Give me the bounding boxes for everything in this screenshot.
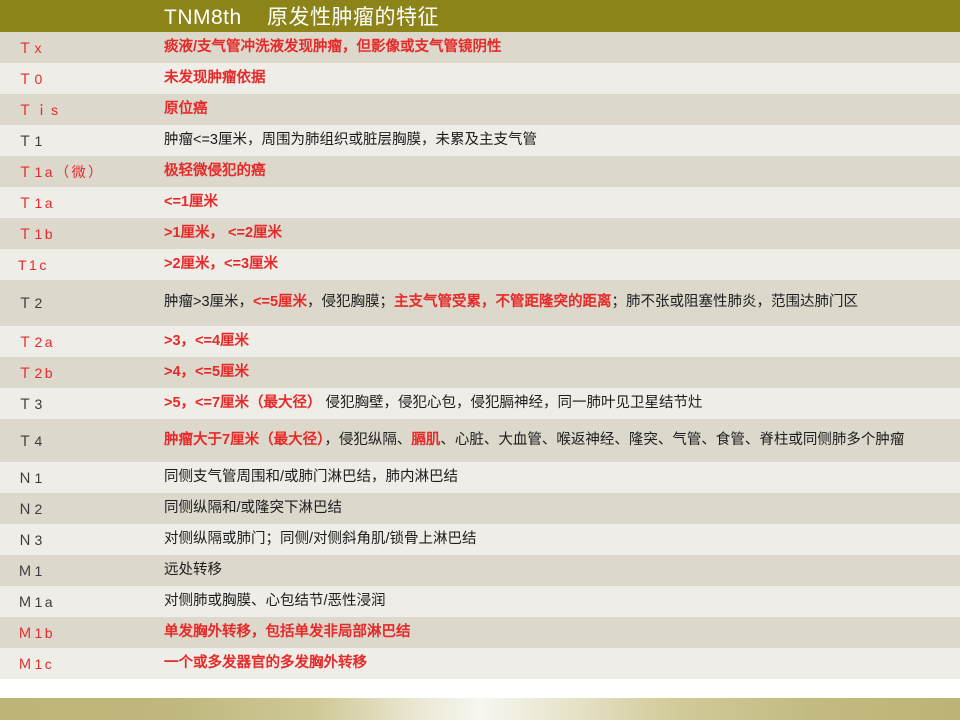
stage-description-cell: >4，<=5厘米 <box>152 357 960 388</box>
table-header: TNM8th 原发性肿瘤的特征 <box>0 0 960 32</box>
stage-code-cell: Ｔ2a <box>0 326 152 357</box>
table-row: Ｔ1a<=1厘米 <box>0 187 960 218</box>
table-row: Ｍ1c一个或多发器官的多发胸外转移 <box>0 648 960 679</box>
table-row: Ｎ2同侧纵隔和/或隆突下淋巴结 <box>0 493 960 524</box>
header-title-cell: TNM8th 原发性肿瘤的特征 <box>152 0 960 32</box>
stage-code-cell: Ｔ4 <box>0 419 152 462</box>
table-row: Ｍ1a对侧肺或胸膜、心包结节/恶性浸润 <box>0 586 960 617</box>
tnm-staging-table: TNM8th 原发性肿瘤的特征 Ｔx痰液/支气管冲洗液发现肿瘤，但影像或支气管镜… <box>0 0 960 679</box>
stage-description-cell: >1厘米， <=2厘米 <box>152 218 960 249</box>
table-row: Ｔ0未发现肿瘤依据 <box>0 63 960 94</box>
stage-description-cell: 同侧纵隔和/或隆突下淋巴结 <box>152 493 960 524</box>
table-row: Ｔ1b>1厘米， <=2厘米 <box>0 218 960 249</box>
stage-description-cell: 对侧肺或胸膜、心包结节/恶性浸润 <box>152 586 960 617</box>
stage-description-cell: >2厘米，<=3厘米 <box>152 249 960 280</box>
description-segment: ，侵犯纵隔、 <box>324 432 411 448</box>
stage-code-cell: Ｔ1b <box>0 218 152 249</box>
stage-code-cell: Ｔ1 <box>0 125 152 156</box>
description-segment: 膈肌 <box>411 432 440 448</box>
stage-code-cell: Ｎ1 <box>0 462 152 493</box>
table-row: Ｔｉs原位癌 <box>0 94 960 125</box>
header-blank-cell <box>0 0 152 32</box>
description-segment: ，侵犯胸膜； <box>307 294 394 310</box>
stage-code-cell: Ｍ1c <box>0 648 152 679</box>
description-segment: ；肺不张或阻塞性肺炎，范围达肺门区 <box>612 294 859 310</box>
stage-description-cell: 肿瘤大于7厘米（最大径），侵犯纵隔、膈肌、心脏、大血管、喉返神经、隆突、气管、食… <box>152 419 960 462</box>
stage-code-cell: Ｔ0 <box>0 63 152 94</box>
stage-code-cell: Ｍ1 <box>0 555 152 586</box>
stage-description-cell: 远处转移 <box>152 555 960 586</box>
stage-description-cell: 一个或多发器官的多发胸外转移 <box>152 648 960 679</box>
stage-description-cell: <=1厘米 <box>152 187 960 218</box>
stage-description-cell: 未发现肿瘤依据 <box>152 63 960 94</box>
stage-description-cell: >5，<=7厘米（最大径） 侵犯胸壁，侵犯心包，侵犯膈神经，同一肺叶见卫星结节灶 <box>152 388 960 419</box>
table-row: Ｎ3对侧纵隔或肺门；同侧/对侧斜角肌/锁骨上淋巴结 <box>0 524 960 555</box>
table-row: Ｔ1肿瘤<=3厘米，周围为肺组织或脏层胸膜，未累及主支气管 <box>0 125 960 156</box>
stage-description-cell: 同侧支气管周围和/或肺门淋巴结，肺内淋巴结 <box>152 462 960 493</box>
stage-code-cell: Ｔx <box>0 32 152 63</box>
stage-description-cell: 极轻微侵犯的癌 <box>152 156 960 187</box>
stage-code-cell: Ｔ1a <box>0 187 152 218</box>
description-segment: 主支气管受累，不管距隆突的距离 <box>394 294 612 310</box>
table-row: Ｔ2a>3，<=4厘米 <box>0 326 960 357</box>
slide-canvas: TNM8th 原发性肿瘤的特征 Ｔx痰液/支气管冲洗液发现肿瘤，但影像或支气管镜… <box>0 0 960 720</box>
description-segment: 、心脏、大血管、喉返神经、隆突、气管、食管、脊柱或同侧肺多个肿瘤 <box>440 432 904 448</box>
stage-code-cell: Ｍ1a <box>0 586 152 617</box>
description-segment: 侵犯胸壁，侵犯心包，侵犯膈神经，同一肺叶见卫星结节灶 <box>322 395 703 411</box>
bottom-gradient-bar <box>0 698 960 720</box>
stage-description-cell: >3，<=4厘米 <box>152 326 960 357</box>
description-segment: >5，<=7厘米（最大径） <box>164 395 322 411</box>
table-row: Ｔ3>5，<=7厘米（最大径） 侵犯胸壁，侵犯心包，侵犯膈神经，同一肺叶见卫星结… <box>0 388 960 419</box>
stage-code-cell: T1c <box>0 249 152 280</box>
stage-code-cell: Ｔ2 <box>0 280 152 326</box>
stage-code-cell: Ｎ3 <box>0 524 152 555</box>
stage-description-cell: 单发胸外转移，包括单发非局部淋巴结 <box>152 617 960 648</box>
stage-code-cell: Ｔ2b <box>0 357 152 388</box>
stage-code-cell: Ｔ1a（微） <box>0 156 152 187</box>
description-segment: 肿瘤大于7厘米（最大径） <box>164 432 324 448</box>
stage-code-cell: Ｎ2 <box>0 493 152 524</box>
table-body: Ｔx痰液/支气管冲洗液发现肿瘤，但影像或支气管镜阴性Ｔ0未发现肿瘤依据Ｔｉs原位… <box>0 32 960 679</box>
description-segment: 肿瘤>3厘米， <box>164 294 253 310</box>
table-row: Ｔ2肿瘤>3厘米，<=5厘米，侵犯胸膜；主支气管受累，不管距隆突的距离；肺不张或… <box>0 280 960 326</box>
table-row: T1c>2厘米，<=3厘米 <box>0 249 960 280</box>
table-row: Ｔx痰液/支气管冲洗液发现肿瘤，但影像或支气管镜阴性 <box>0 32 960 63</box>
header-row: TNM8th 原发性肿瘤的特征 <box>0 0 960 32</box>
stage-description-cell: 痰液/支气管冲洗液发现肿瘤，但影像或支气管镜阴性 <box>152 32 960 63</box>
stage-description-cell: 肿瘤>3厘米，<=5厘米，侵犯胸膜；主支气管受累，不管距隆突的距离；肺不张或阻塞… <box>152 280 960 326</box>
stage-description-cell: 原位癌 <box>152 94 960 125</box>
table-row: Ｔ1a（微）极轻微侵犯的癌 <box>0 156 960 187</box>
table-row: Ｔ2b>4，<=5厘米 <box>0 357 960 388</box>
table-row: Ｍ1b单发胸外转移，包括单发非局部淋巴结 <box>0 617 960 648</box>
description-segment: <=5厘米 <box>253 294 307 310</box>
stage-description-cell: 肿瘤<=3厘米，周围为肺组织或脏层胸膜，未累及主支气管 <box>152 125 960 156</box>
table-row: Ｍ1远处转移 <box>0 555 960 586</box>
stage-code-cell: Ｔ3 <box>0 388 152 419</box>
stage-code-cell: Ｔｉs <box>0 94 152 125</box>
stage-description-cell: 对侧纵隔或肺门；同侧/对侧斜角肌/锁骨上淋巴结 <box>152 524 960 555</box>
stage-code-cell: Ｍ1b <box>0 617 152 648</box>
table-row: Ｔ4肿瘤大于7厘米（最大径），侵犯纵隔、膈肌、心脏、大血管、喉返神经、隆突、气管… <box>0 419 960 462</box>
table-row: Ｎ1同侧支气管周围和/或肺门淋巴结，肺内淋巴结 <box>0 462 960 493</box>
